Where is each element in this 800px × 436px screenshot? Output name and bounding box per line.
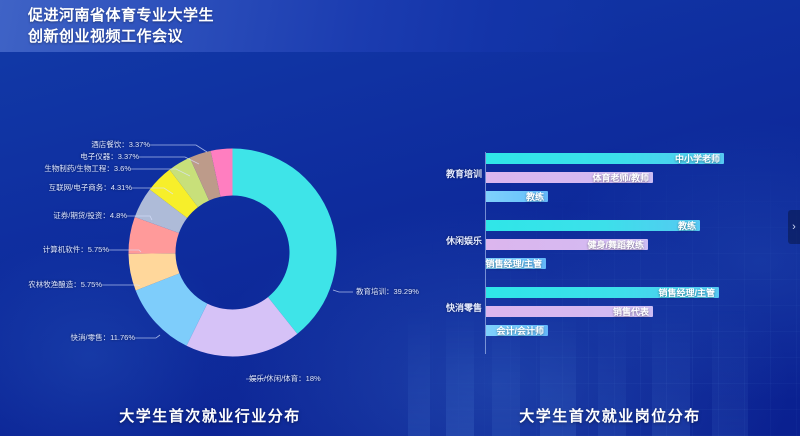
bar-value-label: 健身/舞蹈教练 [587,238,644,251]
bar-row: 健身/舞蹈教练 [486,239,800,250]
bar-value-label: 会计/会计师 [496,324,544,337]
pie-label-fmcg-retail: 快消/零售：11.76% [0,333,135,342]
bar-value-label: 中小学老师 [675,152,720,165]
donut-chart [125,145,340,360]
pie-label-electronic-instruments: 电子仪器：3.37% [0,152,139,161]
pie-label-computer-software: 计算机软件：5.75% [0,245,109,254]
bar-row: 销售经理/主管 [486,287,800,298]
bar-row: 体育老师/教师 [486,172,800,183]
bar-row: 销售代表 [486,306,800,317]
position-chart-caption: 大学生首次就业岗位分布 [420,405,800,426]
bar [486,220,700,231]
pie-label-hotel-catering: 酒店餐饮：3.37% [0,140,150,149]
bar-group-label: 教育培训 [428,167,482,180]
pie-label-agriculture: 农林牧渔酿造：5.75% [0,280,102,289]
bar-row: 教练 [486,220,800,231]
pie-label-securities-futures: 证券/期货/投资：4.8% [0,211,127,220]
bar-value-label: 体育老师/教师 [592,171,649,184]
donut-chart-svg [125,145,340,360]
bar-value-label: 教练 [678,219,696,232]
chevron-right-icon[interactable]: › [788,210,800,244]
bar-value-label: 教练 [526,190,544,203]
bar-row: 会计/会计师 [486,325,800,336]
bar-row: 销售经理/主管 [486,258,800,269]
bar-group-label: 快消零售 [428,301,482,314]
slide-canvas: 促进河南省体育专业大学生 创新创业视频工作会议 酒店餐饮：3.37% 电子仪器：… [0,0,800,436]
industry-distribution-panel: 酒店餐饮：3.37% 电子仪器：3.37% 生物制药/生物工程：3.6% 互联网… [0,52,420,436]
bar-row: 教练 [486,191,800,202]
pie-label-education-training: 教育培训：39.29% [356,287,419,296]
pie-label-entertainment-leisure-sports: 娱乐/休闲/体育：18% [249,374,321,383]
position-distribution-panel: 教育培训中小学老师体育老师/教师教练休闲娱乐教练健身/舞蹈教练销售经理/主管快消… [420,52,800,436]
bar-value-label: 销售经理/主管 [658,286,715,299]
bar-value-label: 销售经理/主管 [485,257,542,270]
bar-row: 中小学老师 [486,153,800,164]
page-title: 促进河南省体育专业大学生 创新创业视频工作会议 [28,5,214,47]
pie-label-biopharma: 生物制药/生物工程：3.6% [0,164,131,173]
bar-group-label: 休闲娱乐 [428,234,482,247]
pie-slice [233,149,337,334]
bar-chart: 教育培训中小学老师体育老师/教师教练休闲娱乐教练健身/舞蹈教练销售经理/主管快消… [420,52,800,382]
industry-chart-caption: 大学生首次就业行业分布 [0,405,420,426]
bar-value-label: 销售代表 [613,305,649,318]
pie-label-internet-ecommerce: 互联网/电子商务：4.31% [0,183,132,192]
